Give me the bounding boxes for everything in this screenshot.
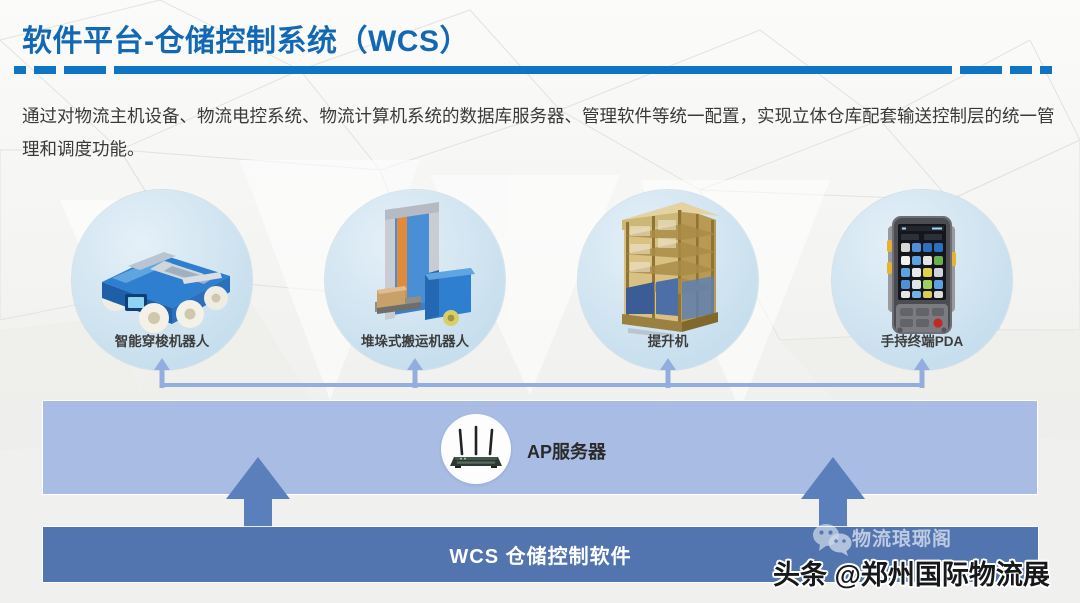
device-circle-handheld-pda[interactable]: 手持终端PDA [832, 190, 1012, 370]
device-label: 提升机 [578, 330, 758, 350]
device-label: 智能穿梭机器人 [72, 330, 252, 350]
ap-server-icon-circle[interactable] [441, 414, 511, 484]
arrow-up-to-vertical-lift [659, 358, 677, 388]
connector-line [162, 383, 922, 387]
arrow-up-to-handheld-pda [913, 358, 931, 388]
device-circle-stacker-robot[interactable]: 堆垛式搬运机器人 [325, 190, 505, 370]
device-label: 手持终端PDA [832, 330, 1012, 350]
device-circle-vertical-lift[interactable]: 提升机 [578, 190, 758, 370]
arrow-up-to-stacker-robot [406, 358, 424, 388]
page-title: 软件平台-仓储控制系统（WCS） [22, 16, 470, 60]
description-paragraph: 通过对物流主机设备、物流电控系统、物流计算机系统的数据库服务器、管理软件等统一配… [22, 100, 1062, 166]
rule-dash-2 [34, 66, 56, 74]
rule-dash-5 [1010, 66, 1032, 74]
ap-server-label: AP服务器 [527, 438, 606, 464]
slide-canvas: 软件平台-仓储控制系统（WCS） 通过对物流主机设备、物流电控系统、物流计算机系… [0, 0, 1080, 603]
toutiao-watermark-text: 头条 @郑州国际物流展 [773, 553, 1050, 592]
rule-main-bar [114, 66, 952, 74]
device-label: 堆垛式搬运机器人 [325, 330, 505, 350]
arrow-up-to-shuttle-robot [153, 358, 171, 388]
wechat-watermark-text: 物流琅琊阁 [852, 524, 952, 551]
rule-dash-3 [64, 66, 106, 74]
wifi-router-icon [441, 414, 511, 484]
rule-dash-4 [960, 66, 1002, 74]
title-accent-rule [0, 66, 1080, 75]
rule-dash-6 [1040, 66, 1052, 74]
device-circle-shuttle-robot[interactable]: 智能穿梭机器人 [72, 190, 252, 370]
rule-dash-1 [14, 66, 26, 74]
